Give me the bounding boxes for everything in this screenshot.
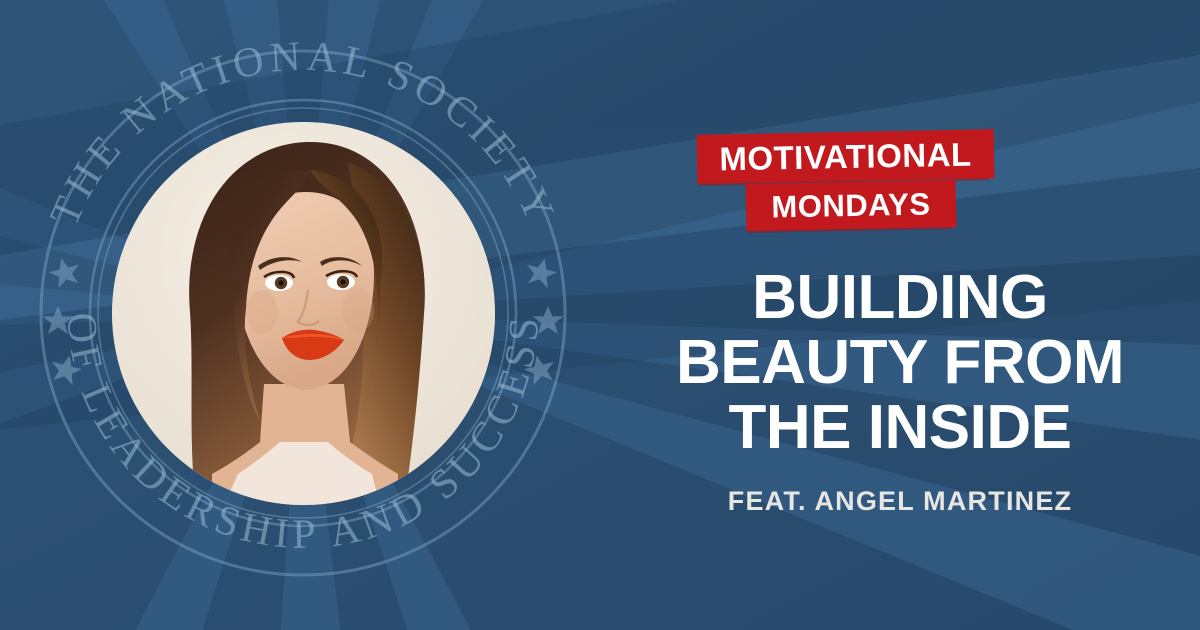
title-line-3: THE INSIDE: [600, 395, 1200, 460]
badge-motivational: MOTIVATIONAL: [697, 129, 995, 184]
episode-title: BUILDING BEAUTY FROM THE INSIDE: [600, 265, 1200, 460]
featured-guest: FEAT. ANGEL MARTINEZ: [600, 486, 1200, 517]
title-line-1: BUILDING: [600, 265, 1200, 330]
text-column: MOTIVATIONAL MONDAYS BUILDING BEAUTY FRO…: [600, 0, 1200, 630]
promo-card: THE NATIONAL SOCIETY OF LEADERSHIP AND S…: [0, 0, 1200, 630]
title-line-2: BEAUTY FROM: [600, 330, 1200, 395]
badge-mondays: MONDAYS: [746, 180, 957, 231]
guest-headshot: [112, 122, 495, 505]
